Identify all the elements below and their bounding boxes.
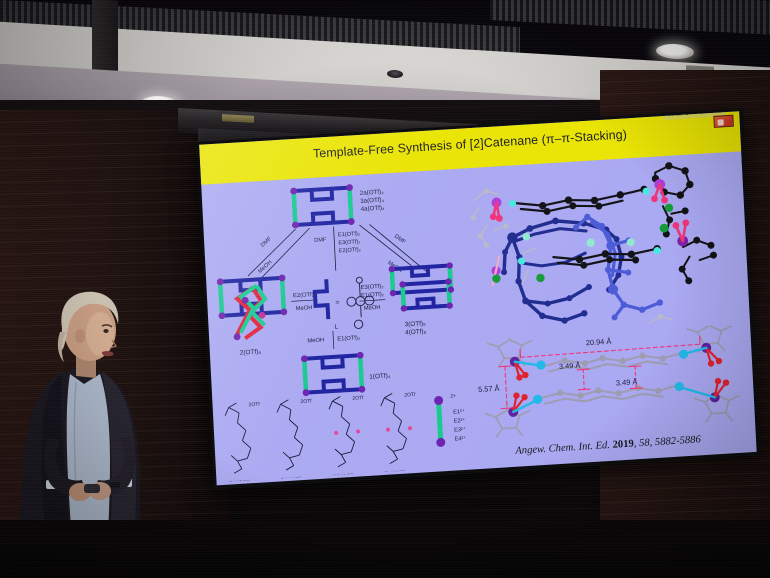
ligand-structures-row: 2OTf E1(OTf)₂ 2OTf E2(OTf)₂ 2OTf <box>225 389 469 482</box>
screen-frame: Template-Free Synthesis of [2]Catenane (… <box>196 108 761 489</box>
scheme-right-catenane-label-1: 3(OTf)₈ <box>404 320 426 328</box>
scheme-left-catenane-label: 2(OTf)₈ <box>240 348 262 356</box>
scheme-center-2: E2(OTf)₂ <box>339 247 361 254</box>
legend-item-0: E1²⁺ <box>453 408 465 416</box>
distance-label-3: 3.49 Å <box>616 377 638 387</box>
ligand-charge-0: 2OTf <box>248 402 260 409</box>
ligand-name-2: E3(OTf)₂ <box>332 473 357 482</box>
brand-logo-icon <box>713 115 734 128</box>
ligand-name-3: E4(OTf)₂ <box>384 469 409 478</box>
scheme-left-arrow-1: MeOH <box>257 260 273 275</box>
crystal-structure-bottom: 20.94 Å 5.57 Å 3.49 Å 3.49 Å <box>474 323 757 452</box>
svg-text:=: = <box>335 299 339 306</box>
ligand-charge-2: 2OTf <box>352 395 364 402</box>
citation-year: 2019 <box>612 438 634 450</box>
distance-label-2: 3.49 Å <box>559 361 581 371</box>
reaction-scheme: 2a(OTf)₄ 3a(OTf)₄ 4a(OTf)₄ DMF MeOH DMF … <box>207 170 484 482</box>
legend-item-2: E3²⁺ <box>454 426 466 434</box>
distance-label-0: 20.94 Å <box>586 337 612 348</box>
scheme-right-arrow-0: DMF <box>393 234 407 246</box>
ligand-label: L <box>335 324 339 331</box>
ligand-name-0: E1(OTf)₂ <box>228 479 253 482</box>
scheme-center-0: E1(OTf)₂ <box>338 231 360 238</box>
legend-item-1: E2²⁺ <box>454 417 466 425</box>
presentation-slide: Template-Free Synthesis of [2]Catenane (… <box>199 111 757 485</box>
scheme-center-1: E3(OTf)₂ <box>338 239 360 246</box>
scheme-left-reagent-1: MeOH <box>296 305 313 312</box>
scheme-bottom-reagent-0: MeOH <box>307 337 324 344</box>
ceiling-grille-right <box>490 0 770 36</box>
lecture-hall-photo: Template-Free Synthesis of [2]Catenane (… <box>0 0 770 578</box>
ligand-charge-3: 2OTf <box>404 392 416 399</box>
scheme-center-dmf: DMF <box>314 237 327 244</box>
ligand-name-1: E2(OTf)₂ <box>280 476 305 482</box>
scheme-right-catenane-label-2: 4(OTf)₈ <box>405 328 427 336</box>
crystal-structure-top <box>457 157 751 342</box>
scheme-bottom-reagent-1: E1(OTf)₂ <box>337 335 360 342</box>
projection-screen: Template-Free Synthesis of [2]Catenane (… <box>196 108 761 489</box>
ligand-charge-1: 2OTf <box>300 398 312 405</box>
legend-item-3: E4²⁺ <box>454 435 466 443</box>
scheme-bottom-ring-label: 1(OTf)₄ <box>369 372 391 380</box>
scheme-right-reagent-0: E3(OTf)₂ <box>361 284 384 291</box>
legend-charge: 2+ <box>450 393 456 399</box>
floor <box>0 520 770 578</box>
scheme-left-reagent-0: E2(OTf)₂ <box>293 292 316 299</box>
clicker-remote <box>84 484 100 493</box>
ligand-legend: 2+ E1²⁺ E2²⁺ E3²⁺ E4²⁺ <box>434 393 467 447</box>
scheme-top-label-2: 4a(OTf)₄ <box>360 204 385 212</box>
ceiling-downlight-right <box>656 43 695 60</box>
scheme-right-reagent-2: MeOH <box>364 305 381 312</box>
distance-label-1: 5.57 Å <box>478 384 500 394</box>
scheme-left-arrow-0: DMF <box>260 236 274 249</box>
